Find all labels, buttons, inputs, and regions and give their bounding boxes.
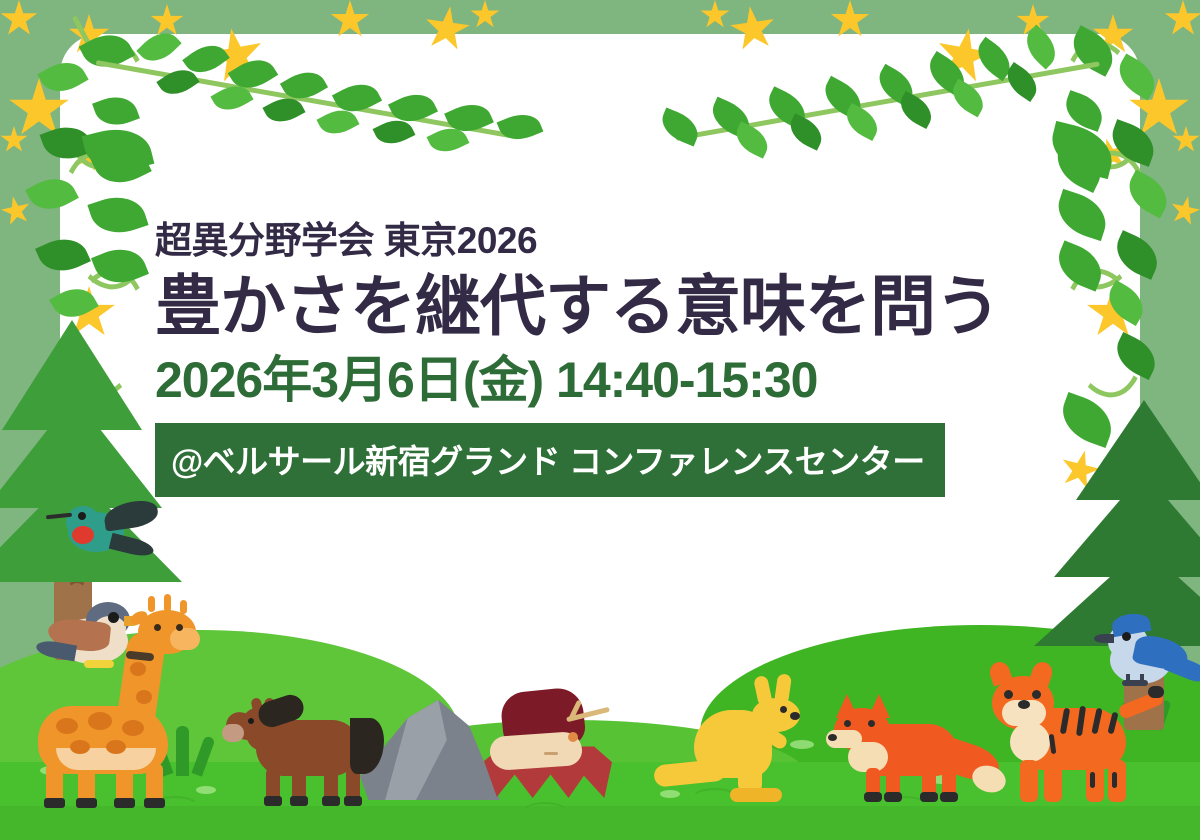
giraffe-eye (176, 624, 183, 631)
giraffe (30, 598, 210, 808)
giraffe-spot (88, 712, 112, 730)
hummingbird-eye (78, 512, 86, 520)
bluejay-leg (1126, 674, 1130, 686)
fox-paw (940, 792, 958, 802)
tiger-leg (1020, 760, 1038, 802)
giraffe-hoof (44, 798, 65, 808)
fox-nose (828, 734, 837, 741)
giraffe-hoof (76, 798, 97, 808)
fox (830, 690, 1000, 810)
event-eyebrow: 超異分野学会 東京2026 (155, 222, 1115, 261)
giraffe-hoof (144, 798, 165, 808)
tiger-leg (1086, 760, 1104, 802)
event-venue-bar: @ベルサール新宿グランド コンファレンスセンター (155, 423, 945, 497)
giraffe-ossicone (164, 594, 171, 612)
giraffe-spot (56, 718, 78, 734)
hummingbird (48, 498, 158, 568)
bluejay-tail (1164, 653, 1200, 685)
fox-paw (920, 792, 938, 802)
fox-ear (836, 694, 858, 718)
fox-eye (844, 720, 851, 727)
snail-mouth (544, 752, 558, 755)
star-icon (1167, 193, 1200, 229)
fox-paw (864, 792, 882, 802)
giraffe-snout (170, 628, 200, 650)
giraffe-belly (56, 748, 156, 770)
giraffe-eye (154, 624, 161, 631)
giraffe-spot (106, 740, 126, 754)
horse (222, 690, 392, 810)
horse-hoof (322, 796, 340, 806)
hummingbird-wing (102, 498, 159, 531)
fox-paw (884, 792, 902, 802)
grass-swish (520, 802, 570, 826)
horse-tail (350, 718, 384, 774)
fox-eye (868, 720, 875, 727)
bluejay (1094, 612, 1200, 702)
snail (480, 690, 620, 800)
horse-hoof (264, 796, 282, 806)
horse-hoof (290, 796, 308, 806)
kangaroo (672, 680, 812, 810)
giraffe-ossicone (148, 596, 155, 612)
giraffe-hoof (114, 798, 135, 808)
star-icon (700, 0, 730, 30)
star-icon (1164, 0, 1200, 38)
event-poster: 超異分野学会 東京2026 豊かさを継代する意味を問う 2026年3月6日(金)… (0, 0, 1200, 840)
kangaroo-nose (790, 712, 800, 720)
hummingbird-tail (109, 533, 156, 559)
horse-eye (248, 718, 254, 724)
kangaroo-eye (780, 706, 787, 713)
tiger-nose (1018, 700, 1030, 709)
bluejay-beak (1094, 634, 1114, 643)
tiger-stripe (1112, 772, 1117, 788)
star-icon (0, 0, 38, 38)
kangaroo-foot (730, 788, 782, 802)
tiger-eye (1004, 690, 1013, 699)
giraffe-spot (70, 740, 90, 754)
horse-hoof (344, 796, 362, 806)
kangaroo-ear (753, 675, 773, 707)
poster-text-block: 超異分野学会 東京2026 豊かさを継代する意味を問う 2026年3月6日(金)… (155, 222, 1115, 497)
giraffe-spot (130, 662, 146, 676)
tiger-eye (1032, 690, 1041, 699)
bluejay-leg (1140, 674, 1144, 686)
star-icon (1172, 126, 1200, 154)
giraffe-ossicone (180, 600, 187, 614)
horse-muzzle (222, 724, 244, 742)
hummingbird-throat (72, 526, 94, 544)
page-title: 豊かさを継代する意味を問う (155, 271, 1115, 342)
bluejay-eye (1122, 632, 1131, 641)
giraffe-spot (136, 690, 152, 704)
tiger-leg (1044, 760, 1062, 802)
giraffe-spot (122, 720, 144, 736)
fox-ear (868, 694, 890, 718)
tiger-stripe (1090, 772, 1095, 788)
tiger-chest (1010, 722, 1050, 762)
event-datetime: 2026年3月6日(金) 14:40-15:30 (155, 354, 1115, 407)
tiger-leg (1108, 760, 1126, 802)
snail-eye (568, 732, 578, 742)
star-icon (470, 0, 500, 30)
